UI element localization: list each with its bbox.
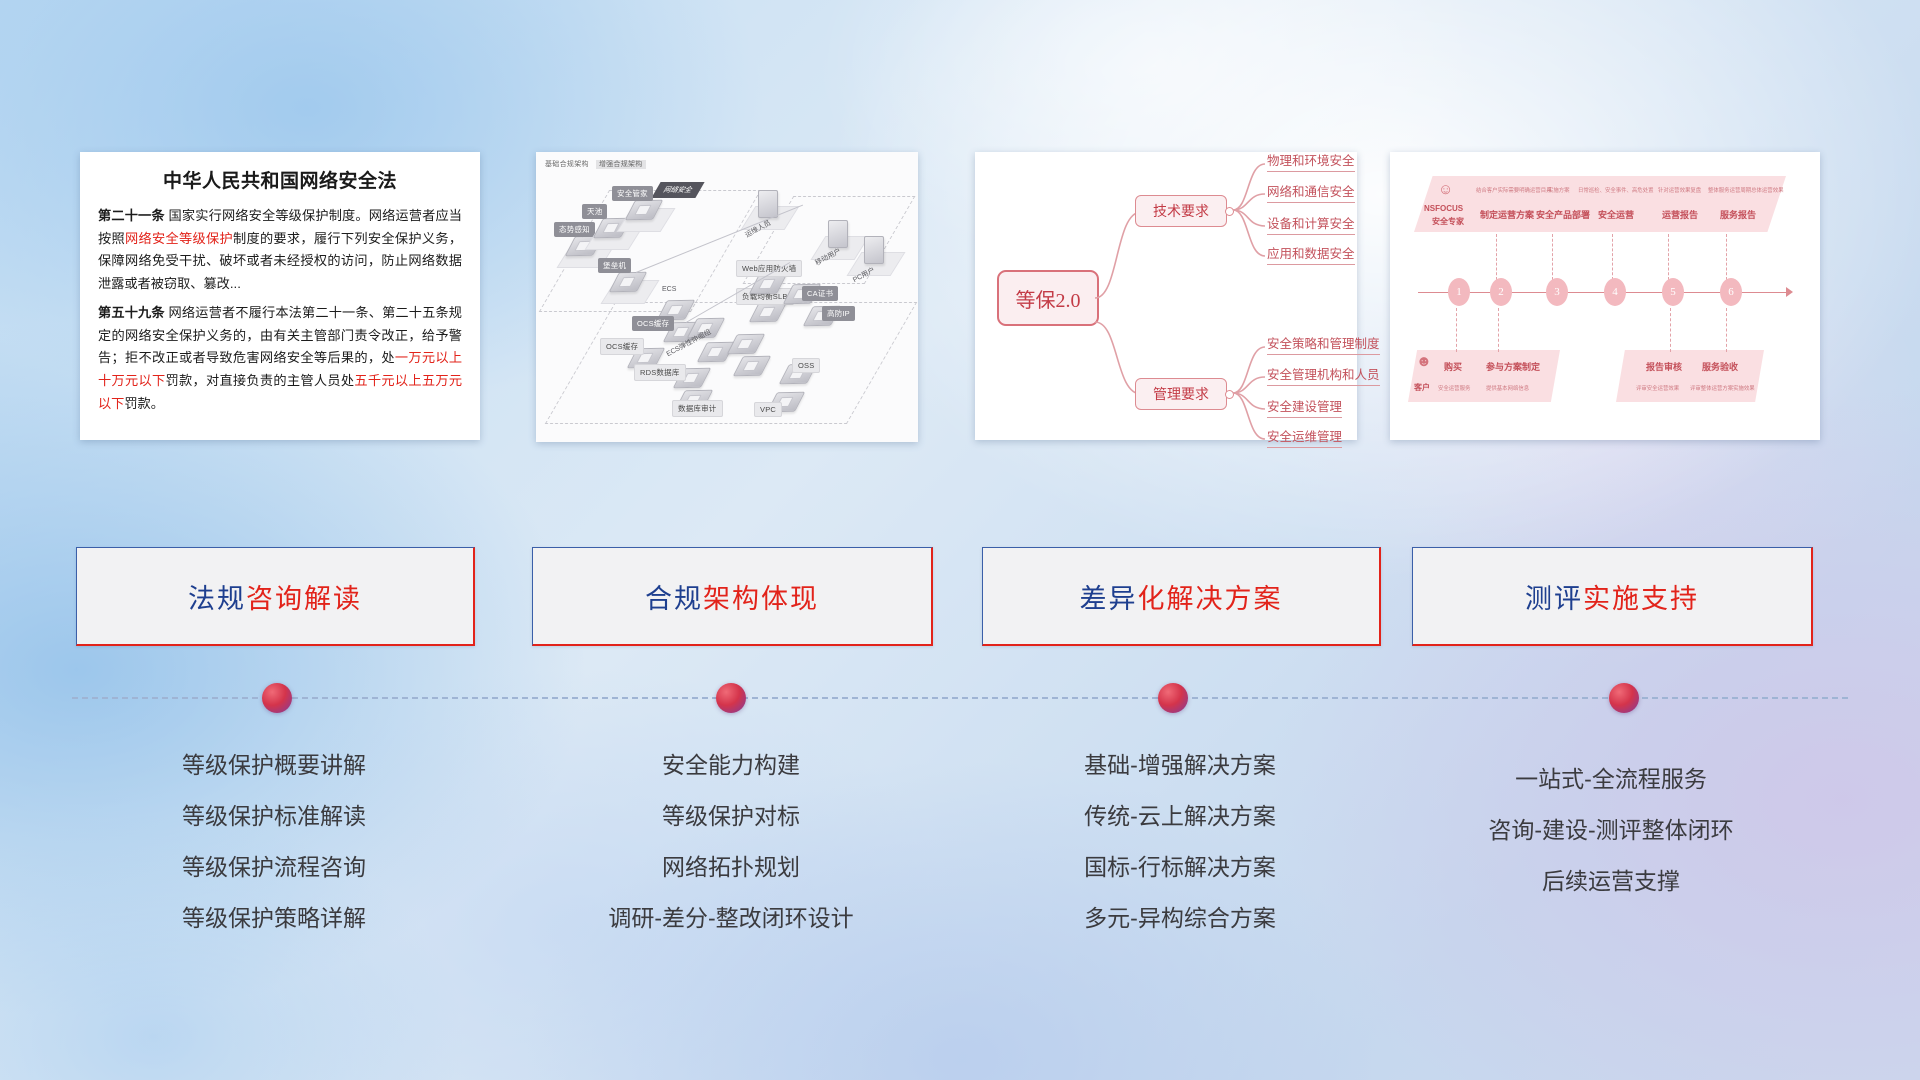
law-article-2-seg-2: 罚款，对直接负责的主管人员处 <box>165 373 354 388</box>
mindmap-leaf-tech-1: 物理和环境安全 <box>1267 150 1355 172</box>
timeline-step-5: 5 <box>1662 278 1684 306</box>
timeline-axis-arrow <box>1786 287 1793 297</box>
law-card-title: 中华人民共和国网络安全法 <box>98 166 462 193</box>
law-text-card: 中华人民共和国网络安全法 第二十一条 国家实行网络安全等级保护制度。网络运营者应… <box>80 152 480 440</box>
mindmap-leaf-mgmt-1: 安全策略和管理制度 <box>1267 333 1380 355</box>
list-item: 后续运营支撑 <box>1412 856 1810 907</box>
list-item: 等级保护对标 <box>532 791 930 842</box>
list-item: 基础-增强解决方案 <box>982 740 1378 791</box>
customer-person-icon: ☻ <box>1416 354 1432 369</box>
architecture-legend: 基础合规架构增强合规架构 <box>545 159 653 169</box>
timeline-bottom-band-right <box>1616 350 1764 402</box>
mindmap-fan-tech <box>1233 158 1267 278</box>
list-item: 等级保护标准解读 <box>76 791 472 842</box>
list-item: 咨询-建设-测评整体闭环 <box>1412 805 1810 856</box>
timeline-top-band <box>1414 176 1786 232</box>
detail-column-4: 一站式-全流程服务 咨询-建设-测评整体闭环 后续运营支撑 <box>1412 754 1810 907</box>
architecture-plane-compute <box>545 302 917 424</box>
law-article-2-number: 第五十九条 <box>98 305 165 320</box>
image-card-row: 中华人民共和国网络安全法 第二十一条 国家实行网络安全等级保护制度。网络运营者应… <box>0 152 1920 442</box>
timeline-bead-4[interactable] <box>1609 683 1639 713</box>
heading-box-differentiated-solution[interactable]: 差异化解决方案 <box>982 547 1381 646</box>
heading-4-blue: 测评 <box>1525 584 1583 614</box>
top-sub-5: 整体服务运营周期总体运营效果 <box>1708 186 1783 194</box>
list-item: 等级保护策略详解 <box>76 893 472 944</box>
list-item: 安全能力构建 <box>532 740 930 791</box>
timeline-dashed-line <box>72 697 1848 699</box>
list-item: 多元-异构综合方案 <box>982 893 1378 944</box>
node-tianchi: 天池 <box>582 204 607 219</box>
node-ecs: ECS <box>662 286 676 293</box>
section-heading-row: 法规咨询解读 合规架构体现 差异化解决方案 测评实施支持 <box>0 547 1920 647</box>
timeline-step-6: 6 <box>1720 278 1742 306</box>
heading-1-blue: 法规 <box>188 584 246 614</box>
architecture-diagram-card: 基础合规架构增强合规架构 网络安全 态势感知 天池 安全管家 堡垒机 <box>536 152 918 442</box>
list-item: 等级保护流程咨询 <box>76 842 472 893</box>
mindmap-leaf-mgmt-4: 安全运维管理 <box>1267 426 1342 448</box>
list-item: 网络拓扑规划 <box>532 842 930 893</box>
node-oss: OSS <box>792 358 820 373</box>
timeline-step-1: 1 <box>1448 278 1470 306</box>
timeline-step-4: 4 <box>1604 278 1626 306</box>
top-sub-1: 结合客户实际需要明确运营目具 <box>1476 186 1551 194</box>
node-situational-awareness: 态势感知 <box>554 222 595 237</box>
top-sub-4: 针对运营效果复盘 <box>1658 186 1701 194</box>
heading-3-blue: 差异 <box>1080 584 1138 614</box>
heading-box-compliance-architecture[interactable]: 合规架构体现 <box>532 547 933 646</box>
heading-4-red: 实施支持 <box>1583 584 1699 614</box>
bottom-label-4: 服务验收 <box>1702 360 1738 373</box>
top-label-5: 服务报告 <box>1720 208 1756 221</box>
list-item: 国标-行标解决方案 <box>982 842 1378 893</box>
mindmap-fan-mgmt <box>1233 341 1267 461</box>
expert-person-icon: ☺ <box>1438 182 1453 197</box>
law-article-1-number: 第二十一条 <box>98 208 165 223</box>
law-article-2-seg-4: 罚款。 <box>124 396 164 411</box>
detail-column-2: 安全能力构建 等级保护对标 网络拓扑规划 调研-差分-整改闭环设计 <box>532 740 930 944</box>
network-security-bar: 网络安全 <box>651 182 704 198</box>
heading-2-blue: 合规 <box>645 584 703 614</box>
top-label-4: 运营报告 <box>1662 208 1698 221</box>
timeline-step-3: 3 <box>1546 278 1568 306</box>
list-item: 传统-云上解决方案 <box>982 791 1378 842</box>
law-article-2: 第五十九条 网络运营者不履行本法第二十一条、第二十五条规定的网络安全保护义务的，… <box>98 302 462 416</box>
bottom-sub-1: 安全运营服务 <box>1438 384 1470 392</box>
expert-role-line1: NSFOCUS <box>1424 204 1463 213</box>
list-item: 等级保护概要讲解 <box>76 740 472 791</box>
list-item: 一站式-全流程服务 <box>1412 754 1810 805</box>
timeline-bead-2[interactable] <box>716 683 746 713</box>
bottom-label-3: 报告审核 <box>1646 360 1682 373</box>
bottom-sub-2: 提供基本网络信息 <box>1486 384 1529 392</box>
bottom-sub-4: 评审整体运营方案实施效果 <box>1690 384 1755 392</box>
node-vpc: VPC <box>754 402 782 417</box>
customer-role-label: 客户 <box>1414 382 1430 393</box>
mindmap-branch-tech: 技术要求 <box>1135 195 1227 227</box>
slide-stage: 中华人民共和国网络安全法 第二十一条 国家实行网络安全等级保护制度。网络运营者应… <box>0 0 1920 1080</box>
timeline-bead-1[interactable] <box>262 683 292 713</box>
timeline-rail <box>72 697 1848 701</box>
top-sub-3: 日常巡检、安全事件、高危处置 <box>1578 186 1653 194</box>
legend-item-base: 基础合规架构 <box>545 161 589 168</box>
heading-box-regulation-consulting[interactable]: 法规咨询解读 <box>76 547 475 646</box>
top-label-2: 安全产品部署 <box>1536 208 1590 221</box>
heading-box-assessment-support[interactable]: 测评实施支持 <box>1412 547 1813 646</box>
node-security-butler: 安全管家 <box>612 186 653 201</box>
node-rds-database: RDS数据库 <box>634 364 686 381</box>
service-timeline-card: ☺ NSFOCUS 安全专家 结合客户实际需要明确运营目具 制定运营方案 实施方… <box>1390 152 1820 440</box>
legend-item-enhanced: 增强合规架构 <box>596 160 646 169</box>
law-article-1: 第二十一条 国家实行网络安全等级保护制度。网络运营者应当按照网络安全等级保护制度… <box>98 205 462 296</box>
node-bastion-host: 堡垒机 <box>598 258 631 273</box>
detail-list-row: 等级保护概要讲解 等级保护标准解读 等级保护流程咨询 等级保护策略详解 安全能力… <box>0 740 1920 960</box>
bottom-label-1: 购买 <box>1444 360 1462 373</box>
mindmap-leaf-mgmt-2: 安全管理机构和人员 <box>1267 364 1380 386</box>
mindmap-root-node: 等保2.0 <box>997 270 1099 326</box>
heading-1-red: 咨询解读 <box>246 584 362 614</box>
timeline-bead-3[interactable] <box>1158 683 1188 713</box>
top-sub-2: 实施方案 <box>1548 186 1570 194</box>
bottom-label-2: 参与方案制定 <box>1486 360 1540 373</box>
timeline-step-2: 2 <box>1490 278 1512 306</box>
bottom-sub-3: 评审安全运营效果 <box>1636 384 1679 392</box>
node-ocs-cache: OCS缓存 <box>600 338 644 355</box>
list-item: 调研-差分-整改闭环设计 <box>532 893 930 944</box>
expert-role-line2: 安全专家 <box>1432 216 1464 227</box>
detail-column-3: 基础-增强解决方案 传统-云上解决方案 国标-行标解决方案 多元-异构综合方案 <box>982 740 1378 944</box>
top-label-1: 制定运营方案 <box>1480 208 1534 221</box>
heading-3-red: 化解决方案 <box>1138 584 1283 614</box>
mindmap-leaf-tech-4: 应用和数据安全 <box>1267 243 1355 265</box>
mindmap-card: 等保2.0 技术要求 管理要求 <box>975 152 1357 440</box>
heading-2-red: 架构体现 <box>703 584 819 614</box>
node-db-audit: 数据库审计 <box>672 400 723 417</box>
node-ca-certificate: CA证书 <box>802 286 838 301</box>
mindmap-leaf-tech-3: 设备和计算安全 <box>1267 213 1355 235</box>
detail-column-1: 等级保护概要讲解 等级保护标准解读 等级保护流程咨询 等级保护策略详解 <box>76 740 472 944</box>
node-anti-ddos-ip: 高防IP <box>822 306 855 321</box>
mindmap-leaf-mgmt-3: 安全建设管理 <box>1267 396 1342 418</box>
mindmap-branch-mgmt: 管理要求 <box>1135 378 1227 410</box>
top-label-3: 安全运营 <box>1598 208 1634 221</box>
node-anqishi: OCS缓存 <box>632 316 674 331</box>
law-article-1-seg-1: 网络安全等级保护 <box>125 231 233 246</box>
mindmap-leaf-tech-2: 网络和通信安全 <box>1267 181 1355 203</box>
